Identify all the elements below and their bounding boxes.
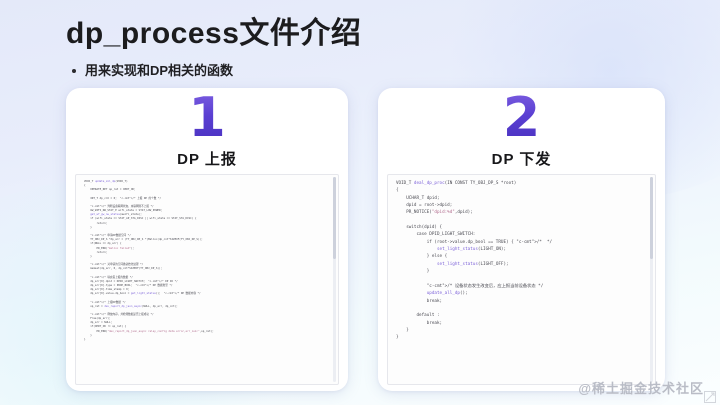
card-number-1: 1 [66,91,348,145]
bullet-row: 用来实现和DP相关的函数 [72,60,233,79]
code-block-2[interactable]: VOID_T deal_dp_proc(IN CONST TY_OBJ_DP_S… [387,174,656,385]
watermark: @稀土掘金技术社区 [578,378,704,397]
code-block-1[interactable]: VOID_T update_all_dp(VOID_T) { OPERATE_R… [75,174,339,385]
bullet-dot-icon [72,69,76,73]
code-text-1: VOID_T update_all_dp(VOID_T) { OPERATE_R… [76,175,338,347]
code-scrollbar-1[interactable] [333,177,336,382]
card-dp-report: 1 DP 上报 VOID_T update_all_dp(VOID_T) { O… [66,88,348,391]
card-container: 1 DP 上报 VOID_T update_all_dp(VOID_T) { O… [0,88,720,393]
resize-handle-icon [704,391,716,403]
slide-canvas: dp_process文件介绍 用来实现和DP相关的函数 1 DP 上报 VOID… [0,0,720,405]
bullet-text: 用来实现和DP相关的函数 [85,60,233,79]
card-label-2: DP 下发 [378,148,665,169]
card-label-1: DP 上报 [66,148,348,169]
card-number-2: 2 [378,91,665,145]
code-text-2: VOID_T deal_dp_proc(IN CONST TY_OBJ_DP_S… [388,175,655,347]
card-dp-dispatch: 2 DP 下发 VOID_T deal_dp_proc(IN CONST TY_… [378,88,665,391]
page-title: dp_process文件介绍 [66,8,361,52]
code-scrollbar-2[interactable] [650,177,653,382]
